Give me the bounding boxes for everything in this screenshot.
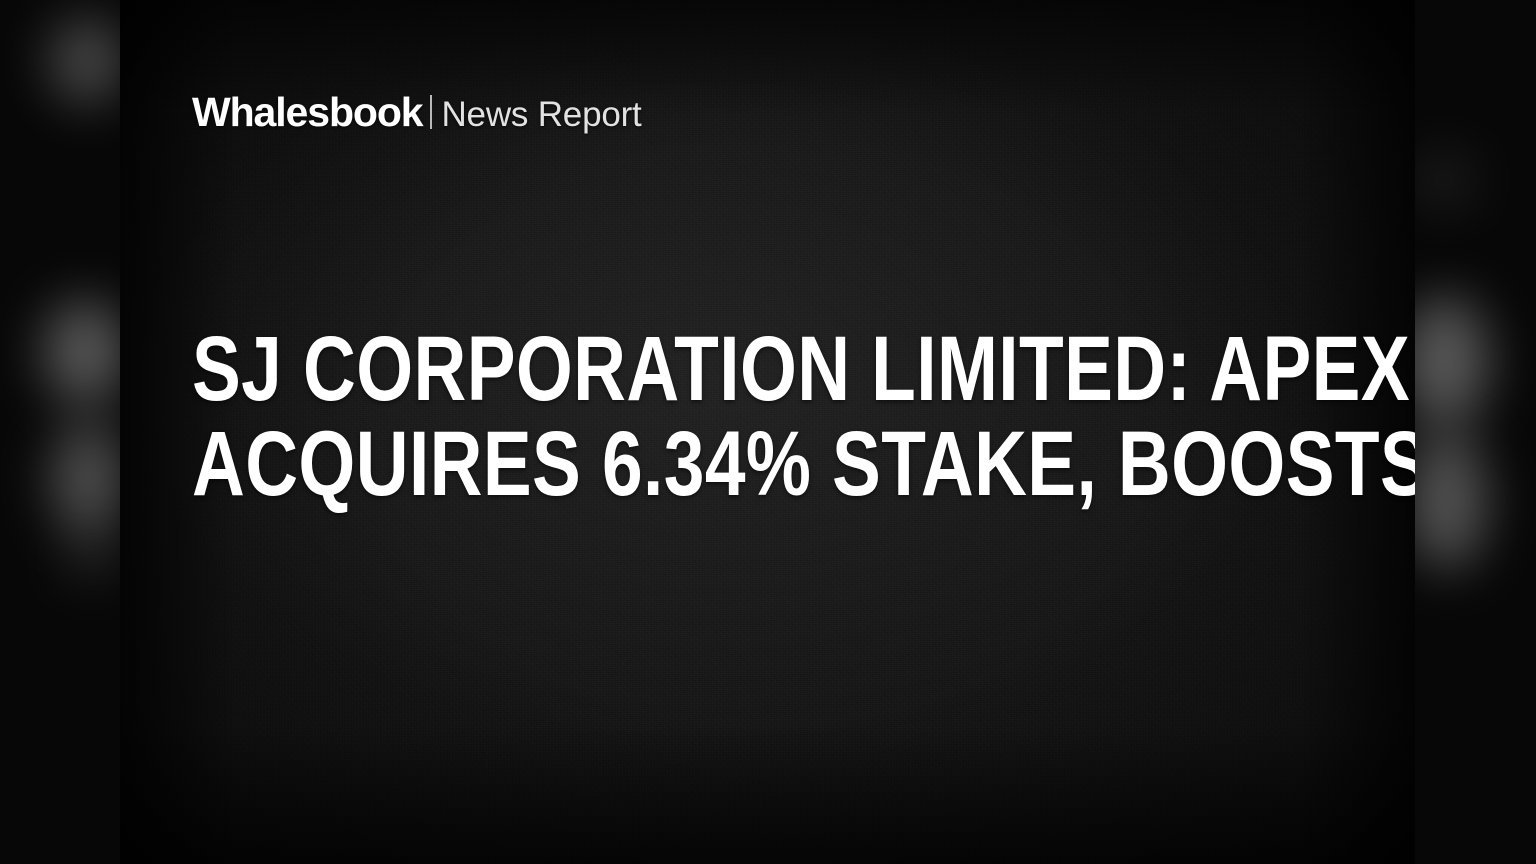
headline: SJ Corporation Limited: Apex Advisors Ac… xyxy=(192,322,1372,512)
backdrop-glow-blob xyxy=(52,420,124,538)
news-card-stage: Whalesbook News Report SJ Corporation Li… xyxy=(0,0,1536,864)
brand-divider-icon xyxy=(430,95,432,129)
headline-line-2: Acquires 6.34% Stake, Boosts Capital xyxy=(192,417,1130,512)
brand-name: Whalesbook xyxy=(192,92,422,133)
backdrop-glow-blob xyxy=(1412,150,1476,210)
brand-kicker: News Report xyxy=(441,97,641,132)
backdrop-glow-blob xyxy=(1408,430,1486,570)
brand-lockup: Whalesbook News Report xyxy=(192,92,642,133)
backdrop-glow-blob xyxy=(62,540,122,580)
backdrop-glow-blob xyxy=(44,300,126,404)
backdrop-glow-blob xyxy=(50,18,124,104)
headline-line-1: SJ Corporation Limited: Apex Advisors xyxy=(192,322,1130,417)
news-card: Whalesbook News Report SJ Corporation Li… xyxy=(120,0,1415,864)
